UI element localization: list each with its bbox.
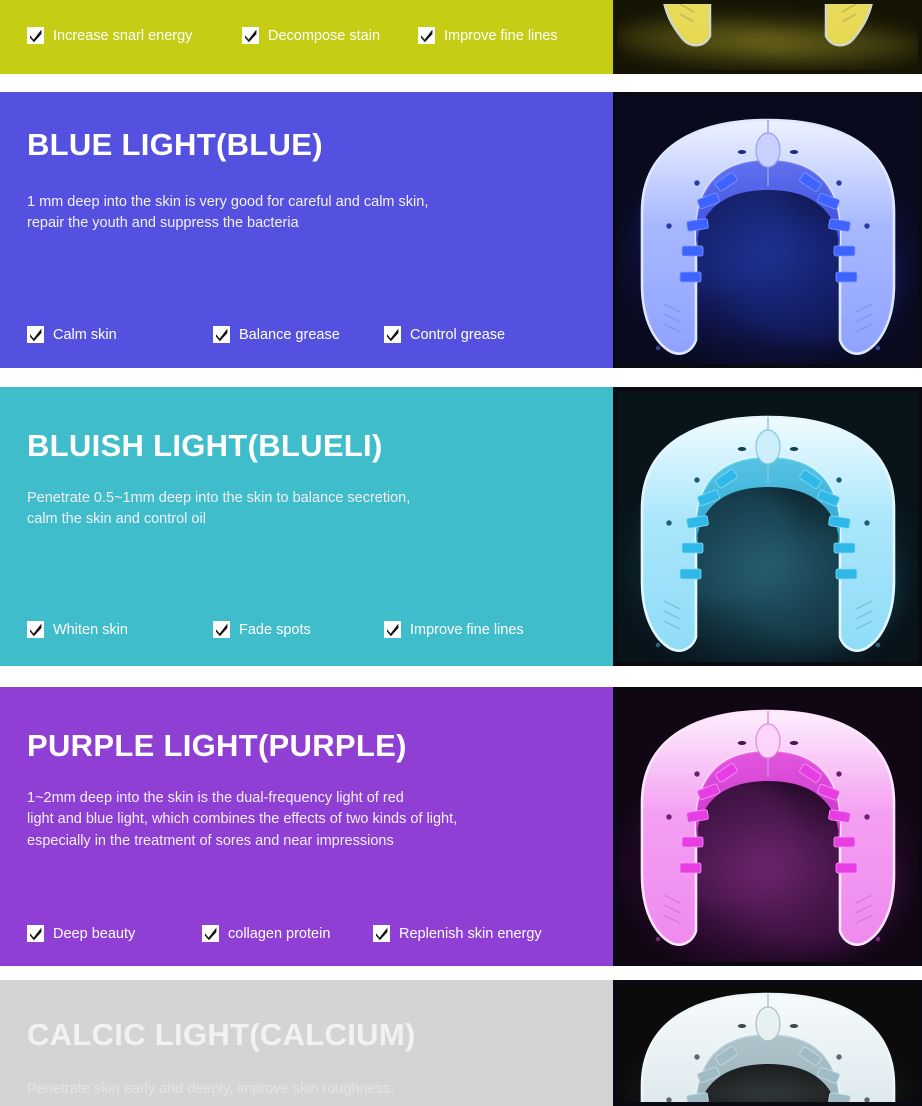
desc-line: repair the youth and suppress the bacter… (27, 215, 299, 231)
check-icon (418, 27, 435, 44)
led-device-shape (630, 707, 906, 957)
section-bluish-photo (613, 387, 922, 666)
check-icon (213, 326, 230, 343)
led-device-shape (630, 413, 906, 662)
feature-label: Deep beauty (53, 926, 135, 942)
desc-line: especially in the treatment of sores and… (27, 833, 394, 849)
section-title: CALCIC LIGHT(CALCIUM) (27, 1018, 416, 1052)
desc-line: light and blue light, which combines the… (27, 811, 457, 827)
feature-row-bluish: Whiten skin Fade spots Improve fine line… (27, 621, 524, 638)
section-description: 1 mm deep into the skin is very good for… (27, 192, 572, 235)
feature-item[interactable]: Decompose stain (242, 27, 418, 44)
feature-label: Whiten skin (53, 622, 128, 638)
check-icon (202, 925, 219, 942)
feature-item[interactable]: Improve fine lines (384, 621, 524, 638)
check-icon (27, 27, 44, 44)
feature-row-blue: Calm skin Balance grease Control grease (27, 326, 505, 343)
desc-line: Penetrate 0.5~1mm deep into the skin to … (27, 490, 410, 506)
section-purple-light: PURPLE LIGHT(PURPLE) 1~2mm deep into the… (0, 687, 922, 966)
led-device-white-glow (617, 984, 918, 1102)
check-icon (213, 621, 230, 638)
check-icon (373, 925, 390, 942)
feature-item[interactable]: Balance grease (213, 326, 384, 343)
section-title: BLUE LIGHT(BLUE) (27, 128, 323, 162)
desc-line: 1 mm deep into the skin is very good for… (27, 194, 428, 210)
section-green-light: Increase snarl energy Decompose stain (0, 0, 922, 74)
feature-item[interactable]: Calm skin (27, 326, 213, 343)
section-purple-photo (613, 687, 922, 966)
feature-label: Improve fine lines (444, 28, 558, 44)
feature-row-green: Increase snarl energy Decompose stain (27, 27, 558, 44)
desc-line: Penetrate skin early and deeply, improve… (27, 1081, 394, 1097)
section-blue-photo (613, 92, 922, 368)
infographic-page: Increase snarl energy Decompose stain (0, 0, 922, 1106)
section-calcic-photo (613, 980, 922, 1106)
section-description: Penetrate skin early and deeply, improve… (27, 1079, 587, 1100)
feature-label: Improve fine lines (410, 622, 524, 638)
desc-line: calm the skin and control oil (27, 511, 206, 527)
section-purple-text: PURPLE LIGHT(PURPLE) 1~2mm deep into the… (0, 687, 613, 966)
feature-label: Increase snarl energy (53, 28, 192, 44)
feature-item[interactable]: Increase snarl energy (27, 27, 242, 44)
led-device-cyan-glow (617, 391, 918, 662)
feature-label: Calm skin (53, 327, 117, 343)
desc-line: 1~2mm deep into the skin is the dual-fre… (27, 790, 404, 806)
section-bluish-light: BLUISH LIGHT(BLUELI) Penetrate 0.5~1mm d… (0, 387, 922, 666)
feature-item[interactable]: Whiten skin (27, 621, 213, 638)
feature-label: Fade spots (239, 622, 311, 638)
feature-label: Control grease (410, 327, 505, 343)
section-calcic-text: CALCIC LIGHT(CALCIUM) Penetrate skin ear… (0, 980, 613, 1106)
section-calcic-light: CALCIC LIGHT(CALCIUM) Penetrate skin ear… (0, 980, 922, 1106)
section-description: 1~2mm deep into the skin is the dual-fre… (27, 788, 597, 852)
check-icon (384, 621, 401, 638)
section-bluish-text: BLUISH LIGHT(BLUELI) Penetrate 0.5~1mm d… (0, 387, 613, 666)
section-blue-light: BLUE LIGHT(BLUE) 1 mm deep into the skin… (0, 92, 922, 368)
led-device-yellow-glow (617, 4, 918, 70)
feature-item[interactable]: Replenish skin energy (373, 925, 542, 942)
feature-item[interactable]: Fade spots (213, 621, 384, 638)
feature-item[interactable]: Deep beauty (27, 925, 202, 942)
feature-item[interactable]: Improve fine lines (418, 27, 558, 44)
feature-row-purple: Deep beauty collagen protein Replenish s… (27, 925, 542, 942)
check-icon (27, 621, 44, 638)
section-description: Penetrate 0.5~1mm deep into the skin to … (27, 488, 572, 531)
feature-item[interactable]: Control grease (384, 326, 505, 343)
section-title: BLUISH LIGHT(BLUELI) (27, 429, 383, 463)
section-green-photo (613, 0, 922, 74)
check-icon (27, 326, 44, 343)
check-icon (384, 326, 401, 343)
section-green-text: Increase snarl energy Decompose stain (0, 0, 613, 74)
feature-label: Replenish skin energy (399, 926, 542, 942)
led-device-blue-glow (617, 96, 918, 364)
check-icon (242, 27, 259, 44)
feature-item[interactable]: collagen protein (202, 925, 373, 942)
section-blue-text: BLUE LIGHT(BLUE) 1 mm deep into the skin… (0, 92, 613, 368)
led-device-shape (618, 4, 918, 70)
led-device-shape (630, 990, 906, 1102)
feature-label: collagen protein (228, 926, 330, 942)
feature-label: Decompose stain (268, 28, 380, 44)
led-device-magenta-glow (617, 691, 918, 962)
led-device-shape (630, 116, 906, 364)
check-icon (27, 925, 44, 942)
section-title: PURPLE LIGHT(PURPLE) (27, 729, 407, 763)
feature-label: Balance grease (239, 327, 340, 343)
